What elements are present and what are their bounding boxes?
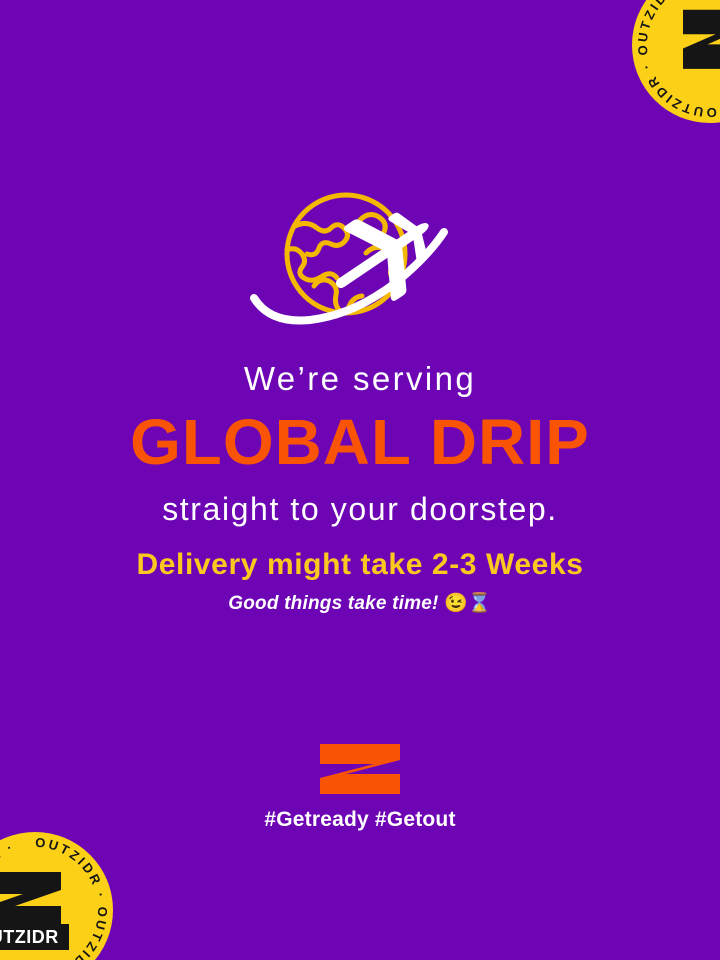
- delivery-note-group: Delivery might take 2-3 Weeks Good thing…: [0, 548, 720, 615]
- delivery-subline: Good things take time! 😉⌛: [0, 594, 720, 615]
- footer-brand-group: #Getready #Getout: [0, 744, 720, 832]
- headline-subtitle: straight to your doorstep.: [0, 493, 720, 527]
- globe-airplane-illustration: [240, 178, 480, 340]
- wink-emoji-icon: 😉: [444, 593, 468, 614]
- badge-wordmark-bar: OUTZIDR: [0, 924, 69, 950]
- headline-group: We’re serving GLOBAL DRIP straight to yo…: [0, 362, 720, 526]
- delivery-subline-text: Good things take time!: [228, 593, 438, 614]
- hourglass-emoji-icon: ⌛: [468, 593, 492, 614]
- badge-wordmark-text: OUTZIDR: [0, 927, 59, 947]
- z-logo-mark-icon: [320, 744, 400, 794]
- headline-eyebrow: We’re serving: [0, 362, 720, 397]
- brand-badge-bottom-left: OUTZIDR · OUTZIDR · OUTZIDR · OUTZIDR · …: [0, 832, 113, 960]
- footer-hashtags: #Getready #Getout: [0, 808, 720, 832]
- poster-canvas: OUTZIDR · OUTZIDR · OUTZIDR · OUTZIDR ·: [0, 0, 720, 960]
- brand-badge-top-right: OUTZIDR · OUTZIDR · OUTZIDR · OUTZIDR ·: [632, 0, 720, 123]
- headline-title: GLOBAL DRIP: [0, 410, 720, 474]
- delivery-headline: Delivery might take 2-3 Weeks: [0, 548, 720, 581]
